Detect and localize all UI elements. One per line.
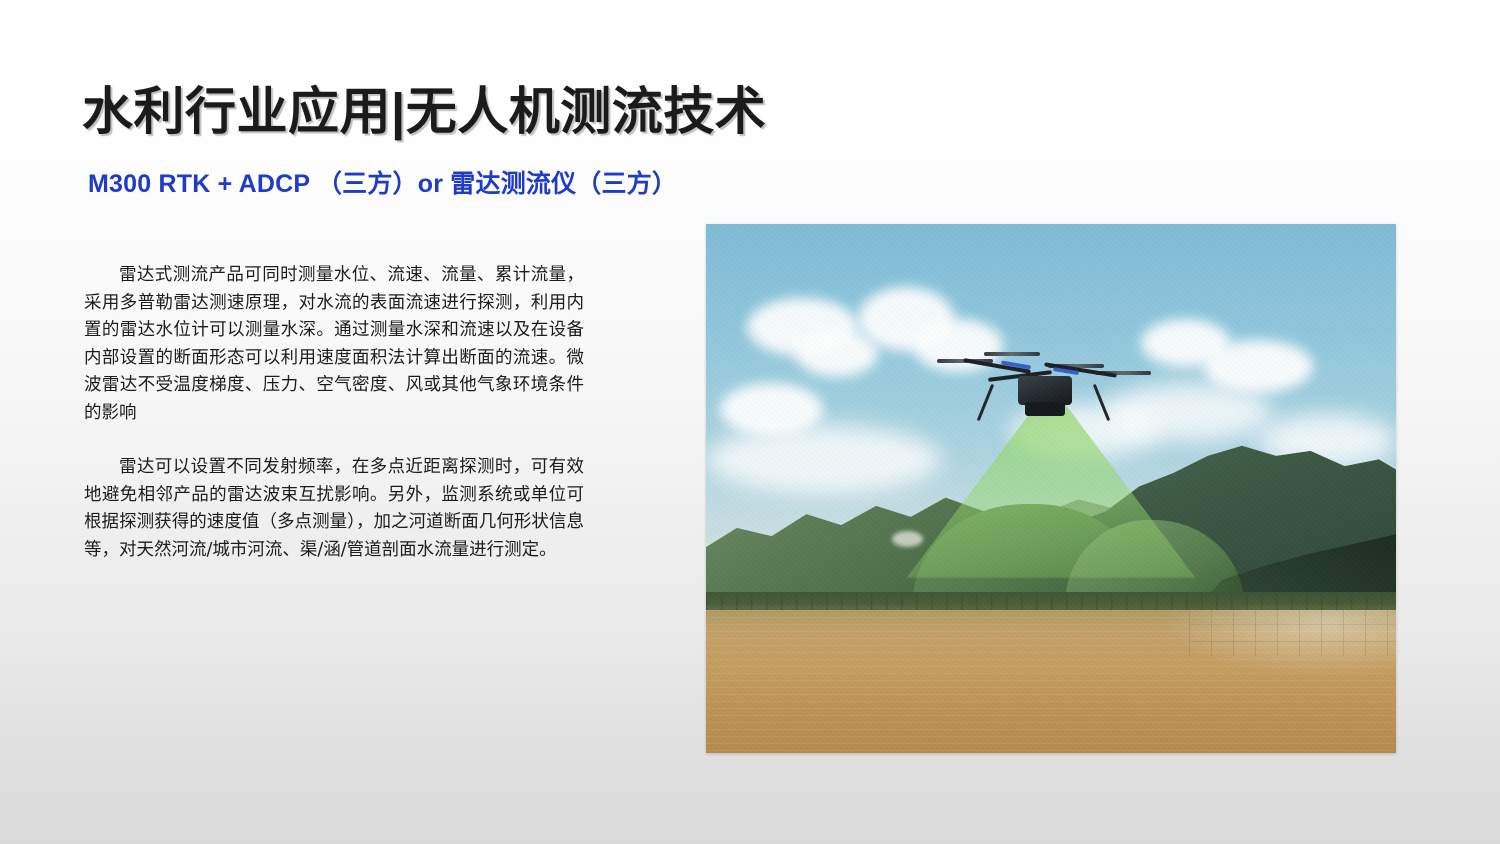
drone-body bbox=[1018, 376, 1071, 405]
paragraph-1: 雷达式测流产品可同时测量水位、流速、流量、累计流量，采用多普勒雷达测速原理，对水… bbox=[84, 262, 584, 427]
muddy-river-water bbox=[706, 610, 1396, 753]
photo-scene bbox=[706, 224, 1396, 753]
drone-sensor-payload bbox=[1025, 402, 1066, 416]
snow-patch bbox=[892, 531, 923, 547]
page-subtitle: M300 RTK + ADCP （三方）or 雷达测流仪（三方） bbox=[88, 164, 677, 200]
body-text-column: 雷达式测流产品可同时测量水位、流速、流量、累计流量，采用多普勒雷达测速原理，对水… bbox=[84, 262, 584, 564]
page-title: 水利行业应用|无人机测流技术 bbox=[82, 84, 766, 140]
landing-leg-left bbox=[977, 384, 994, 421]
paragraph-2: 雷达可以设置不同发射频率，在多点近距离探测时，可有效地避免相邻产品的雷达波束互扰… bbox=[84, 454, 584, 564]
cloud-icon bbox=[706, 425, 941, 494]
water-grid-overlay bbox=[1189, 607, 1396, 656]
slide-canvas: 水利行业应用|无人机测流技术 M300 RTK + ADCP （三方）or 雷达… bbox=[0, 0, 1500, 844]
drone-icon bbox=[937, 346, 1151, 431]
propeller-front-right bbox=[984, 352, 1040, 356]
landing-leg-right bbox=[1093, 384, 1110, 421]
drone-river-photo bbox=[706, 224, 1396, 753]
